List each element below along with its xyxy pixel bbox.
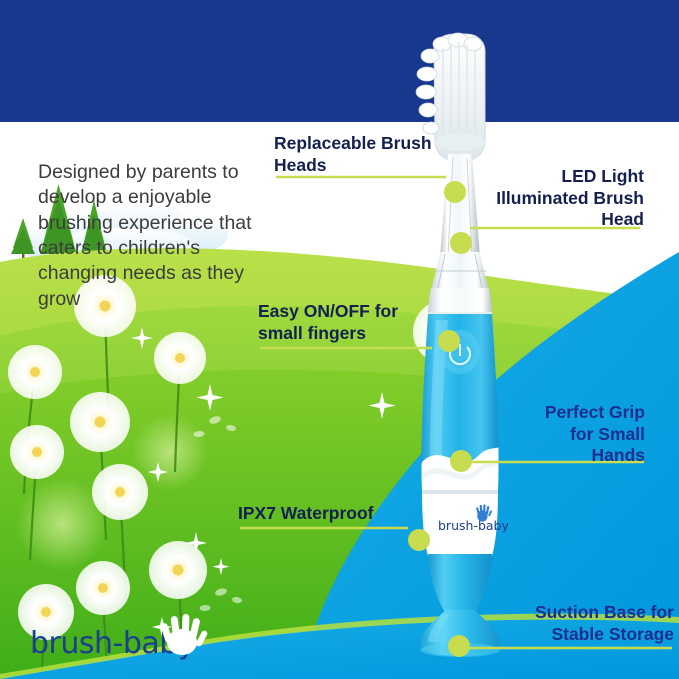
header-band xyxy=(0,0,679,122)
callout-led-light-brush-head: LED Light Illuminated Brush Head xyxy=(478,166,644,231)
intro-paragraph: Designed by parents to develop a enjoyab… xyxy=(38,160,278,312)
power-button xyxy=(440,330,480,374)
callout-ipx7-waterproof: IPX7 Waterproof xyxy=(238,503,418,525)
product-infographic: HAPPY & EASY BRUSHING Designed by parent… xyxy=(0,0,679,679)
callout-perfect-grip: Perfect Grip for Small Hands xyxy=(505,402,645,467)
handprint-icon xyxy=(158,608,210,656)
callout-replaceable-brush-heads: Replaceable Brush Heads xyxy=(274,133,454,176)
brand-logo: brush-baby xyxy=(30,614,210,670)
callout-suction-base: Suction Base for Stable Storage xyxy=(518,602,674,645)
brush-lower-body xyxy=(428,554,492,614)
callout-easy-on-off: Easy ON/OFF for small fingers xyxy=(258,301,438,344)
handle-brand-text: brush-baby xyxy=(438,518,509,533)
